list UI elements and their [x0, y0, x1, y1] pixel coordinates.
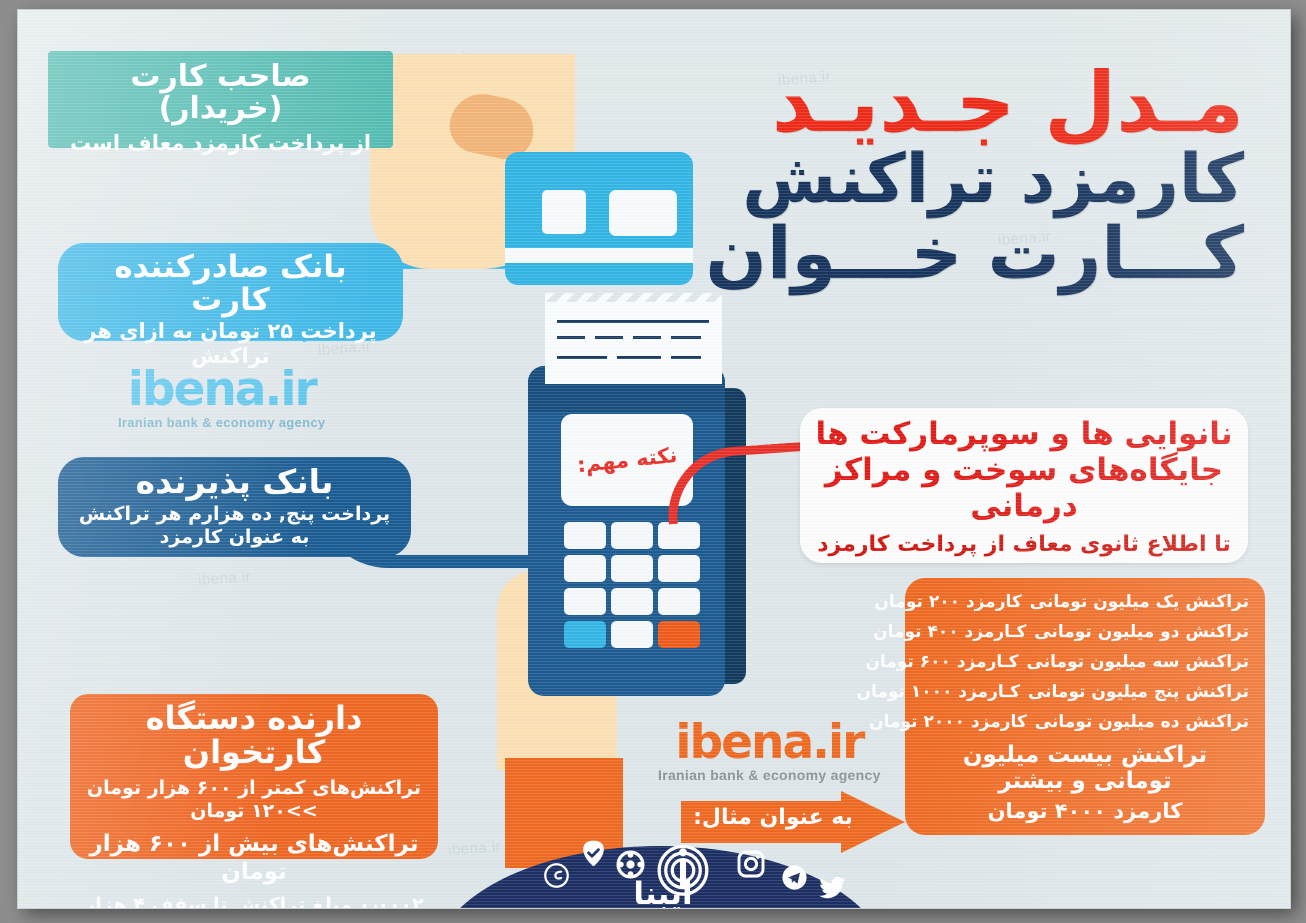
pos-key[interactable]: [564, 588, 606, 615]
issuer-bank-box: بانک صادرکننده کارت پرداخت ۲۵ تومان به ا…: [58, 243, 403, 341]
pos-key-cancel[interactable]: [658, 621, 700, 648]
fee-label: تراکنش دو میلیون تومانی: [1034, 622, 1249, 642]
exempt-line-2: جایگاه‌های سوخت و مراکز درمانی: [812, 453, 1236, 525]
fee-label: تراکنش یک میلیون تومانی: [1030, 592, 1249, 612]
fee-amount: کـارمزد ۶۰۰ تومان: [865, 652, 1026, 672]
pos-owner-line-1: تراکنش‌های کمتر از ۶۰۰ هزار تومان >>۱۲۰ …: [84, 777, 424, 823]
receipt-line: [595, 336, 623, 339]
exempt-line-3: تا اطلاع ثانوی معاف از پرداخت کارمزد: [812, 532, 1236, 557]
title-line-2: کارمزد تراکنش: [705, 147, 1244, 214]
pos-key[interactable]: [564, 522, 606, 549]
important-note-label: نکته مهم:: [576, 443, 678, 477]
pos-owner-line-2: تراکنش‌های بیش از ۶۰۰ هزار تومان: [84, 831, 424, 886]
fee-final-label: تراکنش بیست میلیون تومانی و بیشتر: [921, 742, 1249, 794]
instagram-icon[interactable]: [735, 848, 767, 880]
exempt-line-1: نانوایی ها و سوپرمارکت ها: [812, 417, 1236, 453]
cardholder-box: صاحب کارت (خریدار) از پرداخت کارمزد معاف…: [48, 51, 393, 148]
pos-key[interactable]: [658, 522, 700, 549]
pos-key[interactable]: [611, 621, 653, 648]
example-arrow-label: به عنوان مثال:: [689, 805, 857, 830]
infographic-canvas: ibena.ir ibena.ir ibena.ir ibena.ir iben…: [0, 0, 1306, 923]
bank-card-illustration: [505, 152, 693, 285]
ibena-tagline: Iranian bank & economy agency: [118, 415, 325, 430]
issuer-heading: بانک صادرکننده کارت: [74, 251, 387, 317]
fee-final-amount: کارمزد ۴۰۰۰ تومان: [921, 799, 1249, 823]
fee-table: تراکنش یک میلیون تومانی کارمزد ۲۰۰ تومان…: [905, 578, 1265, 835]
receipt-line: [671, 356, 701, 359]
fee-row: تراکنش دو میلیون تومانی کـارمزد ۴۰۰ توما…: [921, 622, 1249, 642]
cardholder-subtext: از پرداخت کارمزد معاف است: [64, 131, 377, 156]
pos-key[interactable]: [658, 555, 700, 582]
receipt-line: [557, 356, 607, 359]
ibena-wordmark: ibena.ir: [658, 715, 881, 770]
fee-row: تراکنش پنج میلیون تومانی کـارمزد ۱۰۰۰ تو…: [921, 682, 1249, 702]
exempt-businesses-box: نانوایی ها و سوپرمارکت ها جایگاه‌های سوخ…: [800, 408, 1248, 563]
title-line-3: کـــارت خـــوان: [705, 218, 1244, 289]
receipt-line: [557, 336, 585, 339]
card-chip-icon: [542, 190, 586, 234]
fee-amount: کارمزد ۲۰۰ تومان: [874, 592, 1029, 612]
pos-key[interactable]: [658, 588, 700, 615]
eitaa-icon[interactable]: [543, 862, 570, 889]
acquirer-heading: بانک پذیرنده: [74, 465, 395, 500]
receipt-line: [617, 356, 661, 359]
acquirer-bank-box: بانک پذیرنده پرداخت پنج, ده هزارم هر ترا…: [58, 457, 411, 557]
fee-label: تراکنش ده میلیون تومانی: [1035, 712, 1249, 732]
ibena-wordmark: ibena.ir: [118, 362, 325, 417]
pos-owner-box: دارنده دستگاه کارتخوان تراکنش‌های کمتر ا…: [70, 694, 438, 859]
pos-key[interactable]: [611, 555, 653, 582]
pos-key-confirm[interactable]: [564, 621, 606, 648]
receipt-line: [557, 320, 709, 323]
pos-key[interactable]: [564, 555, 606, 582]
fee-row-final: تراکنش بیست میلیون تومانی و بیشتر کارمزد…: [921, 742, 1249, 823]
fee-row: تراکنش ده میلیون تومانی کارمزد ۲۰۰۰ توما…: [921, 712, 1249, 732]
ibena-tagline: Iranian bank & economy agency: [658, 767, 881, 783]
aparat-icon[interactable]: [614, 848, 647, 881]
fee-row: تراکنش یک میلیون تومانی کارمزد ۲۰۰ تومان: [921, 592, 1249, 612]
fee-amount: کـارمزد ۱۰۰۰ تومان: [856, 682, 1028, 702]
telegram-icon[interactable]: [780, 863, 809, 892]
ibena-logo-bottom: ibena.ir Iranian bank & economy agency: [658, 715, 881, 783]
card-stripe: [505, 248, 693, 263]
pos-key[interactable]: [611, 588, 653, 615]
receipt-line: [633, 336, 661, 339]
pos-keypad: [561, 522, 700, 648]
pos-owner-line-3: ۰٫۰۰۰۲ مبلغ تراکنش تا سقف ۴ هزار تومان: [84, 894, 424, 908]
page-title: مـدل جـدیـد کارمزد تراکنش کـــارت خـــوا…: [705, 62, 1244, 289]
fee-row: تراکنش سه میلیون تومانی کـارمزد ۶۰۰ توما…: [921, 652, 1249, 672]
fee-label: تراکنش سه میلیون تومانی: [1027, 652, 1249, 672]
twitter-icon[interactable]: [818, 872, 848, 902]
receipt-line: [671, 336, 701, 339]
fee-label: تراکنش پنج میلیون تومانی: [1028, 682, 1249, 702]
pos-owner-heading: دارنده دستگاه کارتخوان: [84, 702, 424, 770]
receipt-paper-illustration: [545, 302, 722, 384]
bale-icon[interactable]: [578, 838, 609, 869]
fee-amount: کـارمزد ۴۰۰ تومان: [873, 622, 1034, 642]
example-arrow: به عنوان مثال:: [681, 793, 911, 851]
title-line-1: مـدل جـدیـد: [705, 62, 1244, 143]
cardholder-heading: صاحب کارت (خریدار): [64, 61, 377, 125]
ibena-logo-icon[interactable]: [655, 840, 711, 896]
card-panel-icon: [609, 190, 677, 236]
receipt-zigzag: [545, 293, 722, 303]
acquirer-subtext: پرداخت پنج, ده هزارم هر تراکنش به عنوان …: [74, 503, 395, 549]
pos-key[interactable]: [611, 522, 653, 549]
poster-sheet: ibena.ir ibena.ir ibena.ir ibena.ir iben…: [18, 10, 1290, 908]
ibena-logo-top: ibena.ir Iranian bank & economy agency: [118, 362, 325, 430]
fee-amount: کارمزد ۲۰۰۰ تومان: [869, 712, 1035, 732]
